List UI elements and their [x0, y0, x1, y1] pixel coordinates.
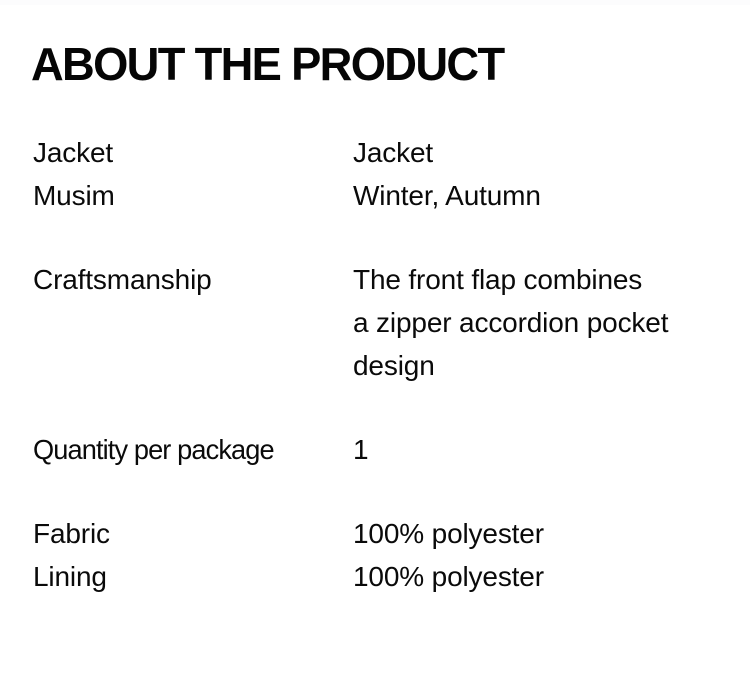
spec-value-line: Winter, Autumn: [353, 174, 683, 217]
spec-group: CraftsmanshipThe front flap combinesa zi…: [33, 258, 723, 387]
spec-value-line: 1: [353, 428, 683, 471]
spec-value: 100% polyester: [353, 555, 683, 598]
spec-value-line: 100% polyester: [353, 555, 683, 598]
spec-value-line: Jacket: [353, 131, 683, 174]
product-spec-table: JacketJacketMusimWinter, AutumnCraftsman…: [33, 131, 723, 598]
spec-label: Quantity per package: [33, 428, 343, 471]
spec-value-line: The front flap combines: [353, 258, 683, 301]
spec-row: JacketJacket: [33, 131, 723, 174]
spec-value-line: 100% polyester: [353, 512, 683, 555]
spec-value-line: a zipper accordion pocket: [353, 301, 683, 344]
spec-group: Quantity per package1: [33, 428, 723, 471]
spec-label: Fabric: [33, 512, 353, 555]
spec-value: Winter, Autumn: [353, 174, 683, 217]
spec-value-line: design: [353, 344, 683, 387]
spec-value: 100% polyester: [353, 512, 683, 555]
spec-row: CraftsmanshipThe front flap combinesa zi…: [33, 258, 723, 387]
page-title: ABOUT THE PRODUCT: [31, 40, 503, 88]
spec-row: Lining100% polyester: [33, 555, 723, 598]
spec-row: MusimWinter, Autumn: [33, 174, 723, 217]
about-the-product-panel: ABOUT THE PRODUCT JacketJacketMusimWinte…: [0, 0, 750, 683]
spec-label: Jacket: [33, 131, 353, 174]
spec-value: Jacket: [353, 131, 683, 174]
spec-group: JacketJacketMusimWinter, Autumn: [33, 131, 723, 217]
spec-value: 1: [353, 428, 683, 471]
spec-group: Fabric100% polyesterLining100% polyester: [33, 512, 723, 598]
spec-row: Quantity per package1: [33, 428, 723, 471]
spec-label: Lining: [33, 555, 353, 598]
spec-row: Fabric100% polyester: [33, 512, 723, 555]
spec-label: Musim: [33, 174, 353, 217]
spec-value: The front flap combinesa zipper accordio…: [353, 258, 683, 387]
spec-label: Craftsmanship: [33, 258, 353, 301]
